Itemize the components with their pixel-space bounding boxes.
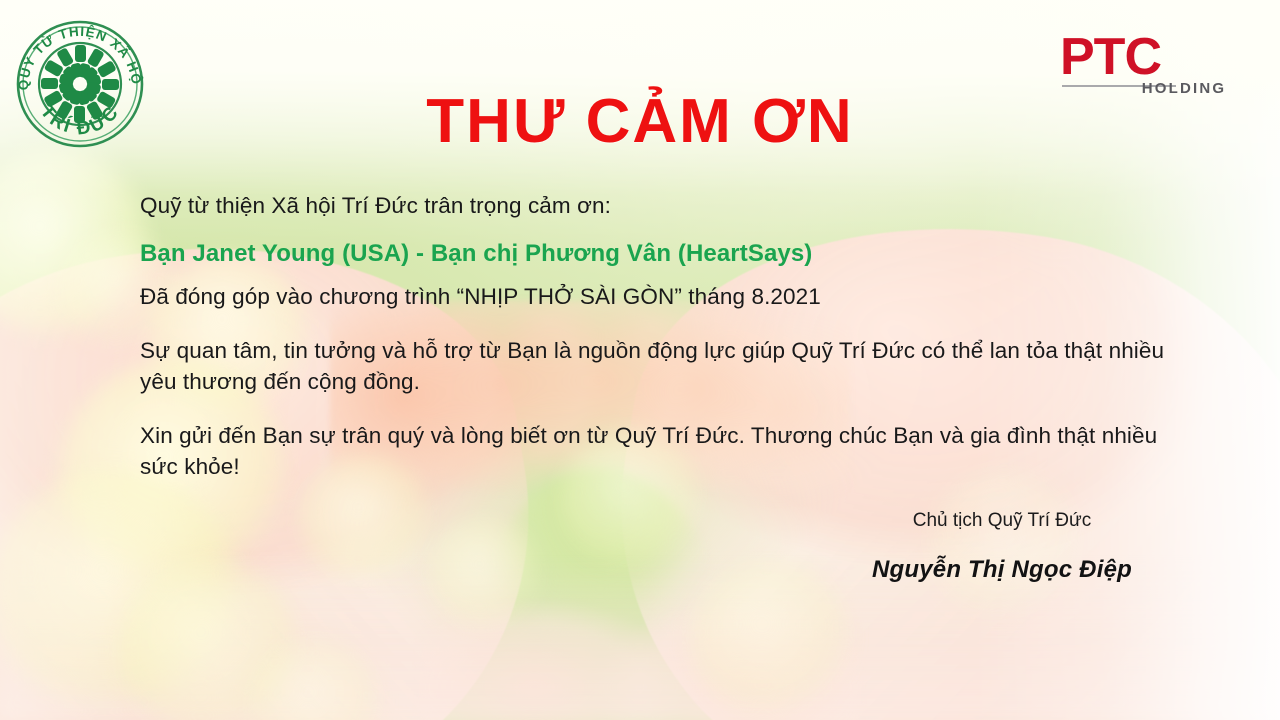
signature-block: Chủ tịch Quỹ Trí Đức Nguyễn Thị Ngọc Điệ…: [842, 508, 1162, 584]
letter-paragraph-2: Xin gửi đến Bạn sự trân quý và lòng biết…: [140, 420, 1170, 482]
ptc-wordmark: PTC: [1060, 28, 1161, 86]
signature-role: Chủ tịch Quỹ Trí Đức: [842, 508, 1162, 534]
program-line: Đã đóng góp vào chương trình “NHỊP THỞ S…: [140, 281, 1170, 312]
letter-paragraph-1: Sự quan tâm, tin tưởng và hỗ trợ từ Bạn …: [140, 335, 1170, 397]
page-title: THƯ CẢM ƠN: [0, 86, 1280, 157]
donor-names-line: Bạn Janet Young (USA) - Bạn chị Phương V…: [140, 238, 1170, 269]
signature-name: Nguyễn Thị Ngọc Điệp: [842, 556, 1162, 584]
thank-you-letter-card: QUỸ TỪ THIỆN XÃ HỘI TRÍ ĐỨC PTC HOLDING …: [0, 0, 1280, 720]
letter-intro-line: Quỹ từ thiện Xã hội Trí Đức trân trọng c…: [140, 190, 1170, 221]
letter-body: Quỹ từ thiện Xã hội Trí Đức trân trọng c…: [140, 190, 1170, 505]
